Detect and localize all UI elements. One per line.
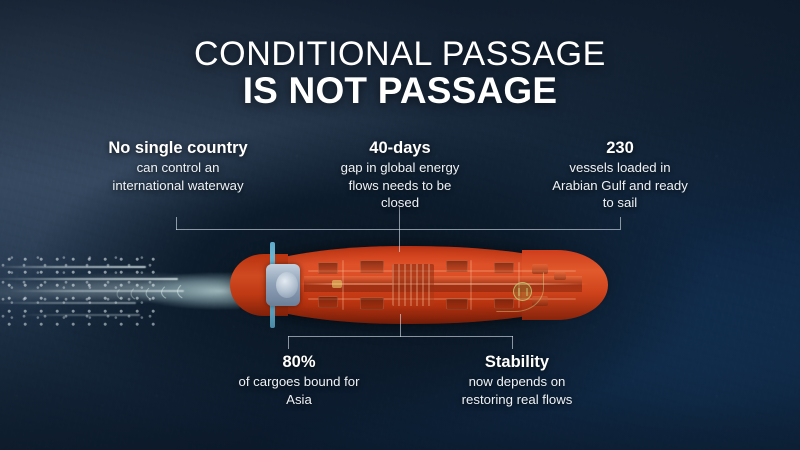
- callout-body-line: can control an: [78, 159, 278, 176]
- deck-light: [332, 280, 342, 288]
- callout-forty-days: 40-days gap in global energy flows needs…: [312, 138, 488, 211]
- callout-body-line: Arabian Gulf and ready: [520, 177, 720, 194]
- tank-hatch: [318, 262, 338, 274]
- tank-hatch: [446, 260, 468, 272]
- callout-body-line: vessels loaded in: [520, 159, 720, 176]
- callout-lede: No single country: [78, 138, 278, 158]
- callout-no-single-country: No single country can control an interna…: [78, 138, 278, 194]
- callout-body-line: flows needs to be: [312, 177, 488, 194]
- deck-equipment: [554, 272, 566, 280]
- bracket-tick-left: [176, 217, 177, 230]
- callout-body-line: now depends on: [414, 373, 620, 390]
- bridge-dome: [276, 272, 298, 298]
- bracket-rail: [176, 229, 620, 230]
- bracket-tick-right: [512, 336, 513, 349]
- callout-body-line: to sail: [520, 194, 720, 211]
- bracket-stem-center: [399, 207, 400, 252]
- callout-body-line: restoring real flows: [414, 391, 620, 408]
- bracket-tick-left: [288, 336, 289, 349]
- callout-lede: 80%: [196, 352, 402, 372]
- callout-lede: 40-days: [312, 138, 488, 158]
- callout-lede: 230: [520, 138, 720, 158]
- callout-body-line: gap in global energy: [312, 159, 488, 176]
- callout-body-line: international waterway: [78, 177, 278, 194]
- callout-230-vessels: 230 vessels loaded in Arabian Gulf and r…: [520, 138, 720, 211]
- helipad-marking: [513, 282, 532, 301]
- callout-80-percent-asia: 80% of cargoes bound for Asia: [196, 352, 402, 408]
- callout-body-line: Asia: [196, 391, 402, 408]
- title-line-1: CONDITIONAL PASSAGE: [0, 37, 800, 71]
- callout-stability: Stability now depends on restoring real …: [414, 352, 620, 408]
- bracket-stem-center: [400, 314, 401, 337]
- callout-body-line: of cargoes bound for: [196, 373, 402, 390]
- page-title: CONDITIONAL PASSAGE IS NOT PASSAGE: [0, 37, 800, 110]
- infographic-canvas: CONDITIONAL PASSAGE IS NOT PASSAGE No si…: [0, 0, 800, 450]
- callout-lede: Stability: [414, 352, 620, 372]
- bracket-tick-right: [620, 217, 621, 230]
- tank-hatch: [360, 260, 384, 273]
- callout-body-line: closed: [312, 194, 488, 211]
- title-line-2: IS NOT PASSAGE: [0, 71, 800, 110]
